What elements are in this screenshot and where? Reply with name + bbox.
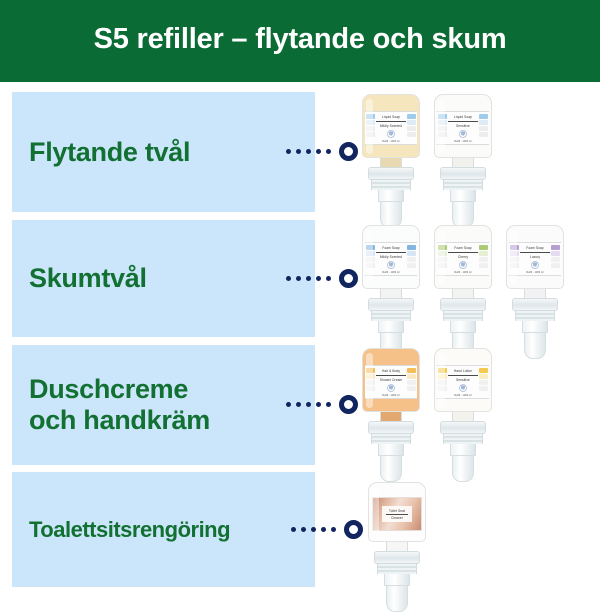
- product-bottle[interactable]: Foam Soap Cherry Refill · 1000 ml: [434, 225, 492, 359]
- product-bottle[interactable]: Hand Lotion Sensitive Refill · 1000 ml: [434, 348, 492, 482]
- product-label-foot: Refill · 1000 ml: [454, 140, 471, 143]
- product-label-subtitle: Cleaner: [391, 516, 403, 520]
- label-side-right: [478, 366, 489, 398]
- connector-dot: [291, 527, 296, 532]
- label-side-right: [406, 366, 417, 398]
- product-label-subtitle: Cherry: [458, 255, 468, 259]
- connector-dot: [326, 402, 331, 407]
- ring-marker-icon[interactable]: [344, 520, 363, 539]
- product-label-subtitle: Mildly Scented: [380, 124, 402, 128]
- connector-dot: [326, 276, 331, 281]
- product-label: Hair & Body Shower Cream Refill · 1000 m…: [365, 365, 417, 399]
- product-label-foot: Refill · 1000 ml: [382, 394, 399, 397]
- category-panel[interactable]: Skumtvål: [12, 220, 315, 337]
- product-label: Liquid Soap Sensitive Refill · 1000 ml: [437, 111, 489, 145]
- label-side-left: [509, 243, 520, 275]
- category-row: Flytande tvål: [0, 92, 600, 212]
- product-label-title: Foam Soap: [526, 246, 543, 250]
- product-label-title: Foam Soap: [382, 246, 399, 250]
- label-side-left: [437, 243, 448, 275]
- product-label-title: Liquid Soap: [454, 115, 472, 119]
- product-bottle[interactable]: Hair & Body Shower Cream Refill · 1000 m…: [362, 348, 420, 482]
- product-bottle[interactable]: Foam Soap Mildly Scented Refill · 1000 m…: [362, 225, 420, 359]
- connector-dot: [286, 276, 291, 281]
- label-side-left: [437, 112, 448, 144]
- connector-dot: [301, 527, 306, 532]
- product-label-subtitle: Sensitive: [456, 378, 470, 382]
- product-label: Foam Soap Luxury Refill · 1000 ml: [509, 242, 561, 276]
- category-panel[interactable]: Toalettsitsrengöring: [12, 472, 315, 587]
- label-side-right: [406, 243, 417, 275]
- product-label: Liquid Soap Mildly Scented Refill · 1000…: [365, 111, 417, 145]
- brand-logo-icon: [387, 261, 395, 269]
- ring-marker-icon[interactable]: [339, 142, 358, 161]
- connector-dot: [321, 527, 326, 532]
- ring-marker-icon[interactable]: [339, 395, 358, 414]
- infographic-page: S5 refiller – flytande och skum Flytande…: [0, 0, 600, 600]
- label-side-right: [406, 112, 417, 144]
- product-label-title: Hair & Body: [382, 369, 400, 373]
- connector-dot: [326, 149, 331, 154]
- product-bottle[interactable]: Liquid Soap Sensitive Refill · 1000 ml: [434, 94, 492, 228]
- product-bottle[interactable]: Toilet Seat Cleaner: [368, 482, 426, 612]
- category-row: Skumtvål: [0, 220, 600, 337]
- connector-dot: [296, 402, 301, 407]
- product-label: Foam Soap Cherry Refill · 1000 ml: [437, 242, 489, 276]
- product-label: Hand Lotion Sensitive Refill · 1000 ml: [437, 365, 489, 399]
- label-side-left: [437, 366, 448, 398]
- product-label-subtitle: Mildly Scented: [380, 255, 402, 259]
- product-group: Toilet Seat Cleaner: [368, 482, 426, 612]
- label-side-right: [478, 243, 489, 275]
- category-label: Duschcreme och handkräm: [12, 374, 210, 436]
- category-panel[interactable]: Duschcreme och handkräm: [12, 345, 315, 465]
- connector-dot: [296, 149, 301, 154]
- connector-dot: [286, 149, 291, 154]
- product-label-foot: Refill · 1000 ml: [454, 271, 471, 274]
- product-label: Toilet Seat Cleaner: [372, 497, 422, 531]
- pump-assembly: [374, 551, 420, 612]
- category-label: Skumtvål: [12, 263, 147, 294]
- connector-dot: [306, 402, 311, 407]
- brand-logo-icon: [459, 261, 467, 269]
- label-side-right: [550, 243, 561, 275]
- page-title: S5 refiller – flytande och skum: [94, 23, 507, 58]
- product-label-title: Hand Lotion: [454, 369, 472, 373]
- label-side-left: [365, 366, 376, 398]
- label-side-left: [365, 112, 376, 144]
- connector-dot: [296, 276, 301, 281]
- connector-dot: [316, 276, 321, 281]
- connector-dot: [316, 402, 321, 407]
- product-group: Foam Soap Mildly Scented Refill · 1000 m…: [362, 225, 564, 359]
- connector-line: [291, 520, 363, 539]
- brand-logo-icon: [459, 384, 467, 392]
- product-label-foot: Refill · 1000 ml: [382, 271, 399, 274]
- connector-dot: [306, 276, 311, 281]
- pump-assembly: [368, 167, 414, 228]
- product-group: Hair & Body Shower Cream Refill · 1000 m…: [362, 348, 492, 482]
- ring-marker-icon[interactable]: [339, 269, 358, 288]
- product-label-subtitle: Sensitive: [456, 124, 470, 128]
- label-side-left: [365, 243, 376, 275]
- connector-dot: [311, 527, 316, 532]
- connector-line: [286, 269, 358, 288]
- connector-dot: [316, 149, 321, 154]
- product-label: Foam Soap Mildly Scented Refill · 1000 m…: [365, 242, 417, 276]
- brand-logo-icon: [459, 130, 467, 138]
- product-label-title: Foam Soap: [454, 246, 471, 250]
- category-row: Duschcreme och handkräm: [0, 345, 600, 465]
- product-label-title: Toilet Seat: [389, 509, 405, 513]
- connector-dot: [286, 402, 291, 407]
- category-label: Toalettsitsrengöring: [12, 517, 230, 542]
- category-row: Toalettsitsrengöring Toilet Seat Cleaner: [0, 472, 600, 587]
- connector-line: [286, 142, 358, 161]
- product-label-foot: Refill · 1000 ml: [382, 140, 399, 143]
- product-label-title: Liquid Soap: [382, 115, 400, 119]
- connector-dot: [306, 149, 311, 154]
- category-panel[interactable]: Flytande tvål: [12, 92, 315, 212]
- product-label-subtitle: Shower Cream: [380, 378, 402, 382]
- connector-line: [286, 395, 358, 414]
- product-bottle[interactable]: Liquid Soap Mildly Scented Refill · 1000…: [362, 94, 420, 228]
- brand-logo-icon: [387, 130, 395, 138]
- brand-logo-icon: [531, 261, 539, 269]
- product-label-subtitle: Luxury: [530, 255, 540, 259]
- connector-dot: [331, 527, 336, 532]
- pump-assembly: [440, 167, 486, 228]
- product-group: Liquid Soap Mildly Scented Refill · 1000…: [362, 94, 492, 228]
- label-side-right: [478, 112, 489, 144]
- product-bottle[interactable]: Foam Soap Luxury Refill · 1000 ml: [506, 225, 564, 359]
- page-header: S5 refiller – flytande och skum: [0, 0, 600, 82]
- product-label-foot: Refill · 1000 ml: [454, 394, 471, 397]
- brand-logo-icon: [387, 384, 395, 392]
- category-label: Flytande tvål: [12, 137, 190, 168]
- product-label-foot: Refill · 1000 ml: [526, 271, 543, 274]
